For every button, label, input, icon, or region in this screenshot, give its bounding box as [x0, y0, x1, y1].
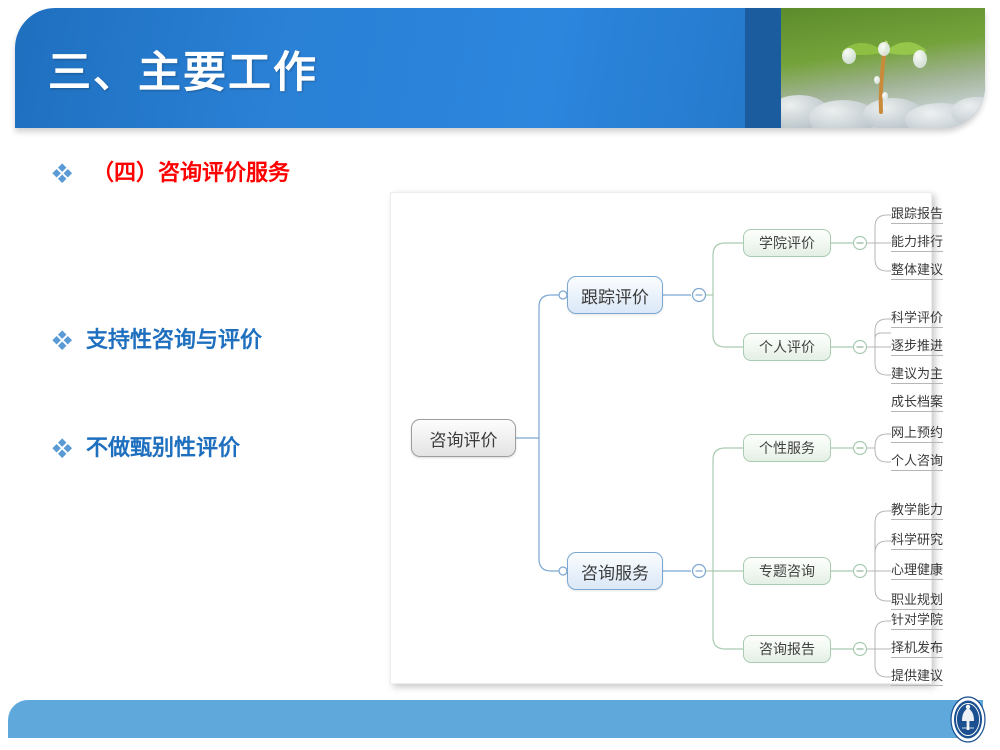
- diamond-cluster-icon: [52, 160, 82, 183]
- mindmap-leaf[interactable]: 针对学院: [891, 609, 943, 630]
- mindmap-subnode-label: 个人评价: [759, 337, 815, 357]
- mindmap-leaf[interactable]: 提供建议: [891, 665, 943, 686]
- mindmap-leaf[interactable]: 网上预约: [891, 422, 943, 443]
- bullet-item-3: 不做甄别性评价: [52, 435, 240, 463]
- mindmap-subnode-label: 咨询报告: [759, 639, 815, 659]
- mindmap-branch-label: 跟踪评价: [581, 283, 649, 308]
- bullet-label-3: 不做甄别性评价: [86, 435, 240, 463]
- mindmap-leaf[interactable]: 成长档案: [891, 391, 943, 412]
- bullet-item-2: 支持性咨询与评价: [52, 327, 262, 355]
- mindmap-leaf[interactable]: 跟踪报告: [891, 203, 943, 224]
- mindmap-subnode-label: 学院评价: [759, 233, 815, 253]
- slide-title: 三、主要工作: [48, 38, 318, 100]
- mindmap-subnode-personal-eval[interactable]: 个人评价: [743, 333, 831, 361]
- header-photo-seedling: [781, 8, 985, 128]
- mindmap-subnode-label: 个性服务: [759, 438, 815, 458]
- mindmap-root-node[interactable]: 咨询评价: [411, 419, 516, 457]
- mindmap-branch-node-tracking[interactable]: 跟踪评价: [567, 276, 663, 314]
- diamond-cluster-icon: [52, 435, 82, 458]
- diamond-cluster-icon: [52, 327, 82, 350]
- mindmap-leaf[interactable]: 择机发布: [891, 637, 943, 658]
- mindmap-leaf[interactable]: 整体建议: [891, 259, 943, 280]
- bullet-item-1: （四）咨询评价服务: [52, 160, 290, 188]
- footer-banner: [8, 700, 983, 738]
- mindmap-leaf[interactable]: 科学评价: [891, 307, 943, 328]
- mindmap-root-label: 咨询评价: [430, 426, 498, 451]
- mindmap-leaf[interactable]: 心理健康: [891, 559, 943, 580]
- mindmap-subnode-college-eval[interactable]: 学院评价: [743, 229, 831, 257]
- mindmap-leaf[interactable]: 逐步推进: [891, 335, 943, 356]
- mindmap-subnode-label: 专题咨询: [759, 561, 815, 581]
- mindmap-leaf[interactable]: 职业规划: [891, 589, 943, 610]
- mindmap-subnode-topic-consulting[interactable]: 专题咨询: [743, 557, 831, 585]
- mindmap-branch-node-consulting[interactable]: 咨询服务: [567, 552, 663, 590]
- header-dark-strip: [745, 8, 781, 128]
- bullet-label-1: （四）咨询评价服务: [92, 160, 290, 188]
- mindmap-subnode-personalized-service[interactable]: 个性服务: [743, 434, 831, 462]
- mindmap-leaf[interactable]: 教学能力: [891, 499, 943, 520]
- mindmap-leaf[interactable]: 科学研究: [891, 529, 943, 550]
- bullet-label-2: 支持性咨询与评价: [86, 327, 262, 355]
- mindmap-leaf[interactable]: 个人咨询: [891, 450, 943, 471]
- mindmap-leaf[interactable]: 能力排行: [891, 231, 943, 252]
- mindmap-subnode-consulting-report[interactable]: 咨询报告: [743, 635, 831, 663]
- mindmap-panel: 咨询评价 跟踪评价 咨询服务 学院评价 个人评价 个性服务 专题咨询 咨询报告 …: [390, 192, 932, 684]
- mindmap-branch-label: 咨询服务: [581, 559, 649, 584]
- slide-canvas: 三、主要工作 （四）咨询评价服务: [0, 0, 1000, 750]
- mindmap-leaf[interactable]: 建议为主: [891, 363, 943, 384]
- university-seal-logo: [950, 696, 986, 743]
